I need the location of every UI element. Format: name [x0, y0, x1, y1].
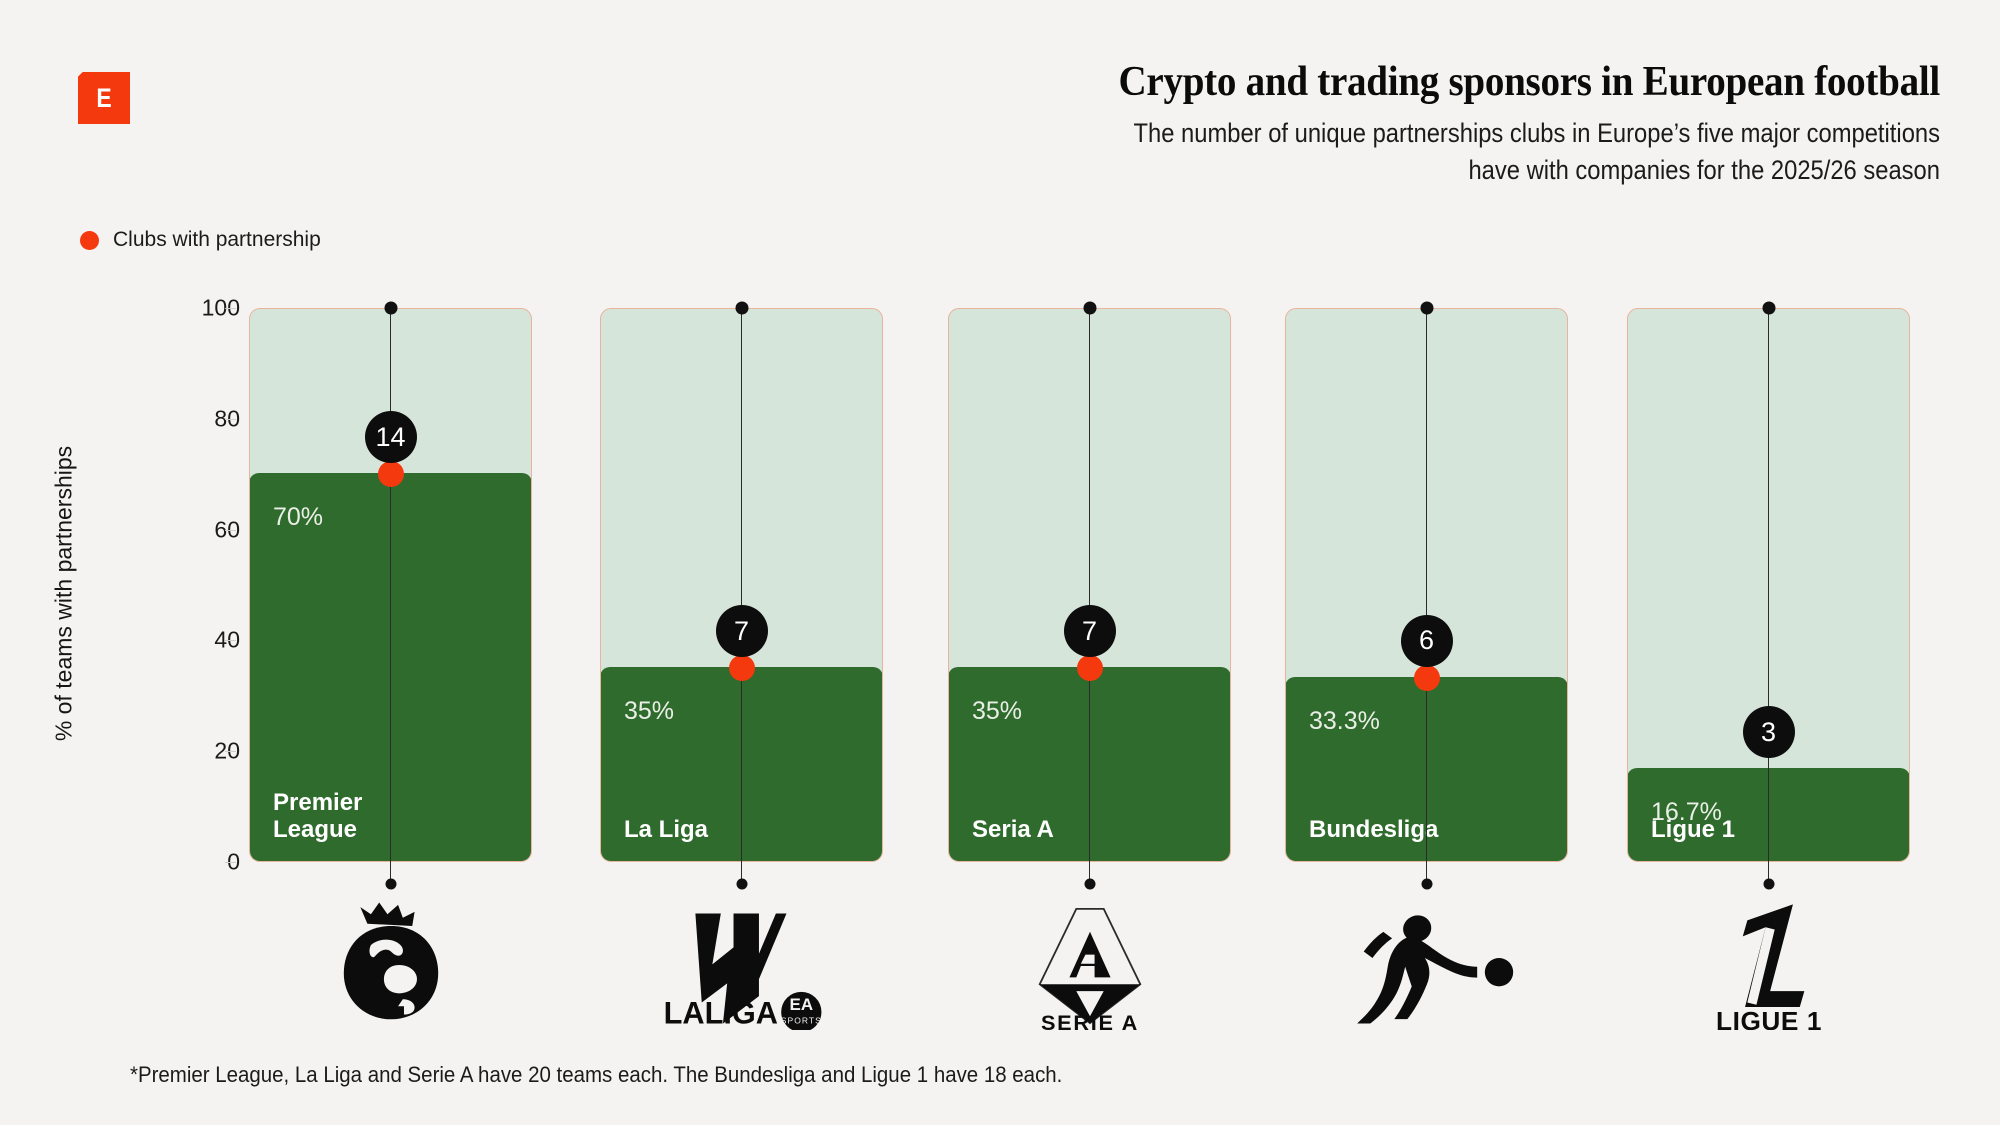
connector-stem [390, 308, 392, 884]
connector-stem [1768, 308, 1770, 884]
bar-percent-label: 33.3% [1309, 707, 1380, 736]
svg-text:LIGUE 1: LIGUE 1 [1716, 1006, 1822, 1030]
bar-league-label: Ligue 1 [1651, 817, 1735, 844]
connector-stem [741, 308, 743, 884]
serie-a-logo: SERIE A [1030, 890, 1150, 1030]
stem-top-dot-icon [1420, 302, 1433, 315]
laliga-logo: LALIGA EA SPORTS [657, 905, 827, 1030]
laliga-logo: LALIGA EA SPORTS [657, 890, 827, 1030]
bar-league-label: La Liga [624, 817, 708, 844]
stem-top-dot-icon [1083, 302, 1096, 315]
bar-percent-label: 70% [273, 503, 323, 532]
club-count-badge[interactable]: 14 [365, 411, 417, 463]
y-axis-tick-label: 20 [120, 738, 240, 765]
stem-bottom-dot-icon [1763, 879, 1774, 890]
y-axis-tick-label: 80 [120, 405, 240, 432]
y-axis-title: % of teams with partnerships [51, 334, 78, 854]
bar-percent-label: 35% [624, 697, 674, 726]
y-axis-tick-mark [225, 308, 236, 309]
stem-top-dot-icon [384, 302, 397, 315]
stem-bottom-dot-icon [385, 879, 396, 890]
ligue-1-logo: LIGUE 1 [1704, 890, 1834, 1030]
value-dot-icon[interactable] [1414, 665, 1440, 691]
stem-top-dot-icon [735, 302, 748, 315]
premier-league-logo [332, 900, 450, 1030]
connector-stem [1426, 308, 1428, 884]
serie-a-logo: SERIE A [1030, 902, 1150, 1030]
club-count-badge[interactable]: 7 [1064, 605, 1116, 657]
bar-league-label: Seria A [972, 817, 1054, 844]
svg-text:SERIE A: SERIE A [1040, 1010, 1138, 1030]
bar-percent-label: 35% [972, 697, 1022, 726]
stem-bottom-dot-icon [736, 879, 747, 890]
stem-top-dot-icon [1762, 302, 1775, 315]
bar-league-label: Premier League [273, 790, 362, 844]
stem-bottom-dot-icon [1084, 879, 1095, 890]
club-count-badge[interactable]: 6 [1401, 615, 1453, 667]
bundesliga-logo [1339, 890, 1514, 1030]
svg-text:LALIGA: LALIGA [663, 995, 777, 1030]
y-axis-tick-label: 60 [120, 516, 240, 543]
y-axis-tick-mark [225, 640, 236, 641]
club-count-badge[interactable]: 7 [716, 605, 768, 657]
bundesliga-logo [1339, 910, 1514, 1030]
y-axis-tick-mark [225, 751, 236, 752]
premier-league-logo [332, 890, 450, 1030]
club-count-badge[interactable]: 3 [1743, 706, 1795, 758]
y-axis-tick-label: 40 [120, 627, 240, 654]
svg-text:SPORTS: SPORTS [780, 1016, 821, 1026]
bar-league-label: Bundesliga [1309, 817, 1438, 844]
svg-text:EA: EA [789, 995, 813, 1014]
y-axis-tick-mark [225, 862, 236, 863]
y-axis-tick-mark [225, 530, 236, 531]
value-dot-icon[interactable] [1077, 655, 1103, 681]
value-dot-icon[interactable] [378, 461, 404, 487]
connector-stem [1089, 308, 1091, 884]
chart-footnote: *Premier League, La Liga and Serie A hav… [130, 1062, 1062, 1088]
stem-bottom-dot-icon [1421, 879, 1432, 890]
chart-plot-area: % of teams with partnerships 02040608010… [0, 0, 2000, 1125]
y-axis-tick-label: 0 [120, 849, 240, 876]
y-axis-tick-mark [225, 419, 236, 420]
value-dot-icon[interactable] [729, 655, 755, 681]
ligue-1-logo: LIGUE 1 [1704, 902, 1834, 1030]
y-axis-tick-label: 100 [120, 295, 240, 322]
